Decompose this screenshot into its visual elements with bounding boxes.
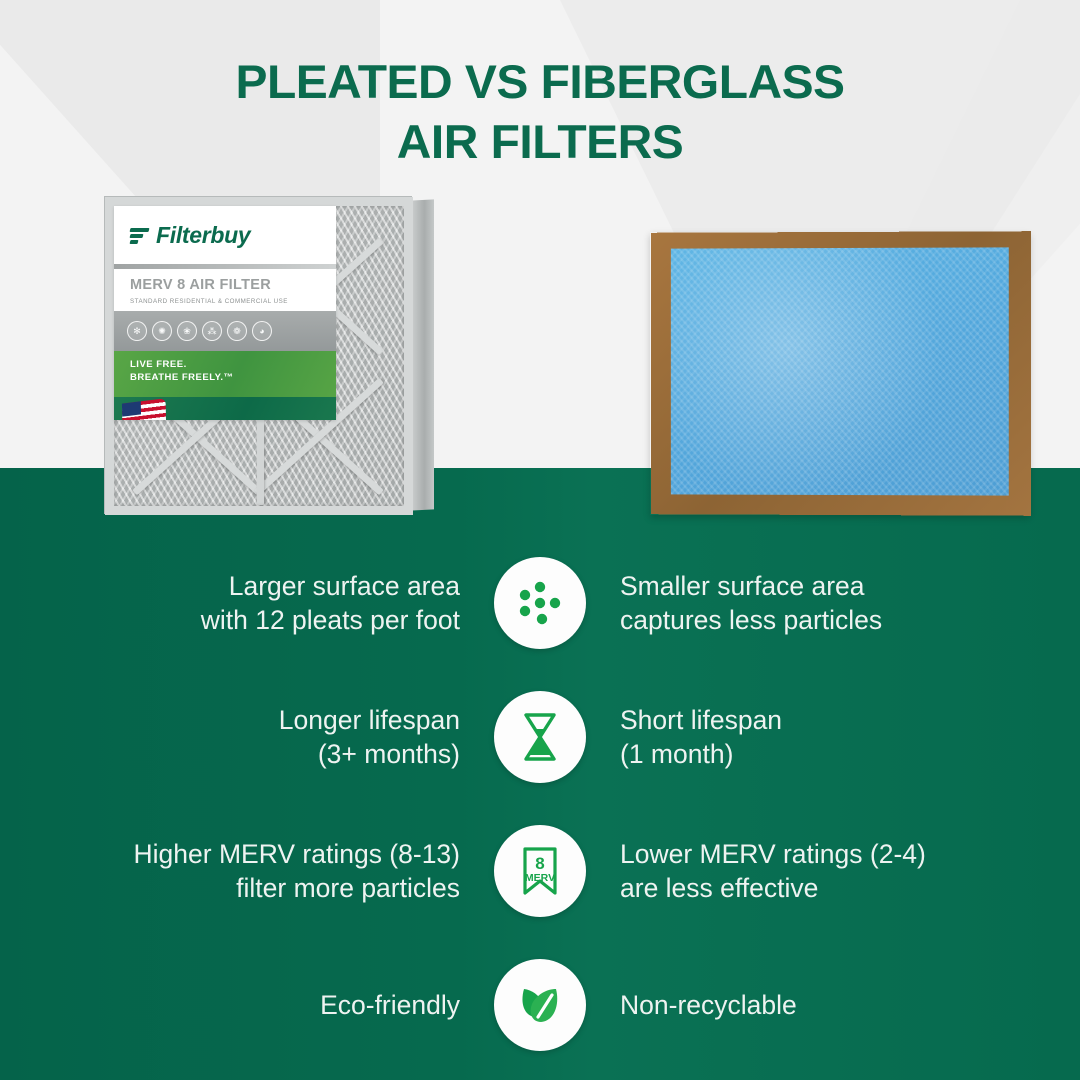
pleated-benefit-text: Higher MERV ratings (8-13) filter more p… bbox=[68, 837, 488, 905]
merv-badge-icon: 8 MERV bbox=[512, 843, 568, 899]
lint-icon: ⁂ bbox=[202, 321, 222, 341]
merv-rating-light: FILTER bbox=[220, 277, 271, 293]
tagline-line-2: BREATHE FREELY.™ bbox=[130, 371, 336, 384]
pleated-benefit-text: Longer lifespan (3+ months) bbox=[68, 703, 488, 771]
comparison-list: Larger surface area with 12 pleats per f… bbox=[0, 536, 1080, 1072]
page-title-line-1: PLEATED VS FIBERGLASS bbox=[0, 52, 1080, 112]
pet-dander-icon: ◕ bbox=[252, 321, 272, 341]
pleated-benefit-text: Larger surface area with 12 pleats per f… bbox=[68, 569, 488, 637]
fiberglass-drawback-text: Smaller surface area captures less parti… bbox=[592, 569, 1012, 637]
icon-circle bbox=[494, 959, 586, 1051]
comparison-row: Eco-friendly Non-recyclable bbox=[0, 938, 1080, 1072]
usa-flag-icon bbox=[122, 398, 166, 420]
comparison-row: Larger surface area with 12 pleats per f… bbox=[0, 536, 1080, 670]
dust-icon: ✺ bbox=[152, 321, 172, 341]
comparison-row: Higher MERV ratings (8-13) filter more p… bbox=[0, 804, 1080, 938]
hourglass-icon bbox=[512, 709, 568, 765]
fiberglass-blue-media bbox=[671, 247, 1009, 495]
brand-row: Filterbuy bbox=[114, 206, 336, 264]
mold-icon: ❀ bbox=[177, 321, 197, 341]
comparison-row: Longer lifespan (3+ months) Short lifesp… bbox=[0, 670, 1080, 804]
page-title: PLEATED VS FIBERGLASS AIR FILTERS bbox=[0, 52, 1080, 172]
pollen-icon: ✻ bbox=[127, 321, 147, 341]
merv-badge-number: 8 bbox=[535, 854, 544, 873]
fiberglass-filter-product-image bbox=[650, 232, 1030, 515]
leaf-icon bbox=[512, 977, 568, 1033]
label-subtitle: STANDARD RESIDENTIAL & COMMERCIAL USE bbox=[114, 298, 336, 311]
filterbuy-logo-icon bbox=[130, 226, 149, 245]
icon-circle bbox=[494, 557, 586, 649]
row-icon-merv-badge: 8 MERV bbox=[488, 819, 592, 923]
merv-rating-main: MERV 8 AIR bbox=[130, 277, 220, 293]
merv-rating-text: MERV 8 AIR FILTER bbox=[114, 269, 336, 298]
smoke-icon: ❁ bbox=[227, 321, 247, 341]
fiberglass-drawback-text: Short lifespan (1 month) bbox=[592, 703, 1012, 771]
fiberglass-cardboard-frame bbox=[651, 231, 1031, 516]
brand-name: Filterbuy bbox=[156, 222, 250, 249]
pleated-benefit-text: Eco-friendly bbox=[68, 988, 488, 1022]
label-footer-band: MADE IN USA bbox=[114, 397, 336, 420]
label-tagline-band: LIVE FREE. BREATHE FREELY.™ bbox=[114, 351, 336, 397]
tagline-line-1: LIVE FREE. bbox=[130, 358, 336, 371]
fiberglass-drawback-text: Lower MERV ratings (2-4) are less effect… bbox=[592, 837, 1012, 905]
label-feature-icon-row: ✻ ✺ ❀ ⁂ ❁ ◕ bbox=[114, 311, 336, 351]
row-icon-leaf bbox=[488, 953, 592, 1057]
fiberglass-drawback-text: Non-recyclable bbox=[592, 988, 1012, 1022]
icon-circle bbox=[494, 691, 586, 783]
pleated-filter-side-edge bbox=[410, 199, 434, 510]
row-icon-hourglass bbox=[488, 685, 592, 789]
merv-badge-label: MERV bbox=[525, 872, 555, 884]
row-icon-particles bbox=[488, 551, 592, 655]
pleated-filter-product-image: Filterbuy MERV 8 AIR FILTER STANDARD RES… bbox=[104, 196, 434, 514]
product-label-card: Filterbuy MERV 8 AIR FILTER STANDARD RES… bbox=[114, 206, 336, 420]
page-title-line-2: AIR FILTERS bbox=[0, 112, 1080, 172]
particles-icon bbox=[512, 575, 568, 631]
icon-circle: 8 MERV bbox=[494, 825, 586, 917]
pleated-filter-face: Filterbuy MERV 8 AIR FILTER STANDARD RES… bbox=[104, 196, 412, 514]
